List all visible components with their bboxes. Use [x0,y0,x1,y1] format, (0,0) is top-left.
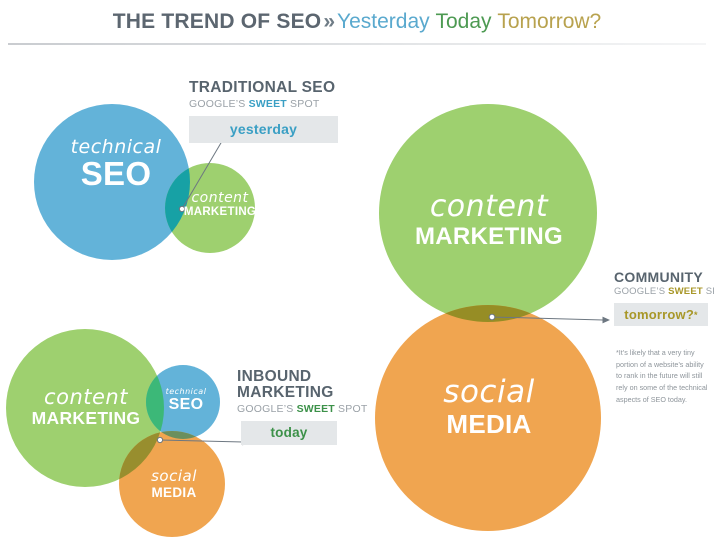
callout-community: COMMUNITY GOOGLE’S SWEET SPOT tomorrow?* [614,270,714,326]
header-divider [8,43,706,45]
sub-pre: GOOGLE’S [237,403,297,415]
callout-subtitle: GOOGLE’S SWEET SPOT [189,98,338,110]
circle-technical-seo [34,104,190,260]
page-title-yesterday: Yesterday [337,10,430,33]
chip-label: yesterday [230,121,297,137]
sub-sweet: SWEET [668,286,703,297]
chip-today[interactable]: today [241,421,337,445]
sub-post: SPOT [703,286,714,297]
venn-diagram-stage [0,46,714,550]
circle-content-marketing [379,104,597,322]
sub-sweet: SWEET [249,98,287,110]
page-header: THE TREND OF SEO»Yesterday Today Tomorro… [0,0,714,46]
callout-inbound-marketing: INBOUND MARKETING GOOGLE’S SWEET SPOT to… [237,369,367,445]
sub-pre: GOOGLE’S [189,98,249,110]
sub-pre: GOOGLE’S [614,286,668,297]
page-title-main: THE TREND OF SEO [113,10,322,33]
page-title-today: Today [435,10,491,33]
chip-yesterday[interactable]: yesterday [189,116,338,143]
circle-social-media [375,305,601,531]
sub-post: SPOT [287,98,320,110]
chevron-icon: » [323,10,335,33]
callout-title-line1: INBOUND [237,369,367,385]
page-title-tomorrow: Tomorrow? [497,10,601,33]
page-title: THE TREND OF SEO»Yesterday Today Tomorro… [0,8,714,36]
chip-label: today [270,425,307,440]
venn-community [375,104,610,531]
chip-label: tomorrow? [624,307,694,322]
sub-sweet: SWEET [297,403,335,415]
chip-footnote-marker: * [694,310,698,320]
callout-title: TRADITIONAL SEO [189,80,338,96]
chip-tomorrow[interactable]: tomorrow?* [614,303,708,326]
sub-post: SPOT [335,403,368,415]
callout-title: COMMUNITY [614,270,714,284]
footnote-text: *It’s likely that a very tiny portion of… [616,347,711,405]
callout-subtitle: GOOGLE’S SWEET SPOT [237,403,367,415]
callout-traditional-seo: TRADITIONAL SEO GOOGLE’S SWEET SPOT yest… [189,80,338,143]
venn-inbound-marketing [6,329,250,537]
callout-title-line2: MARKETING [237,385,367,401]
callout-subtitle: GOOGLE’S SWEET SPOT [614,286,714,297]
